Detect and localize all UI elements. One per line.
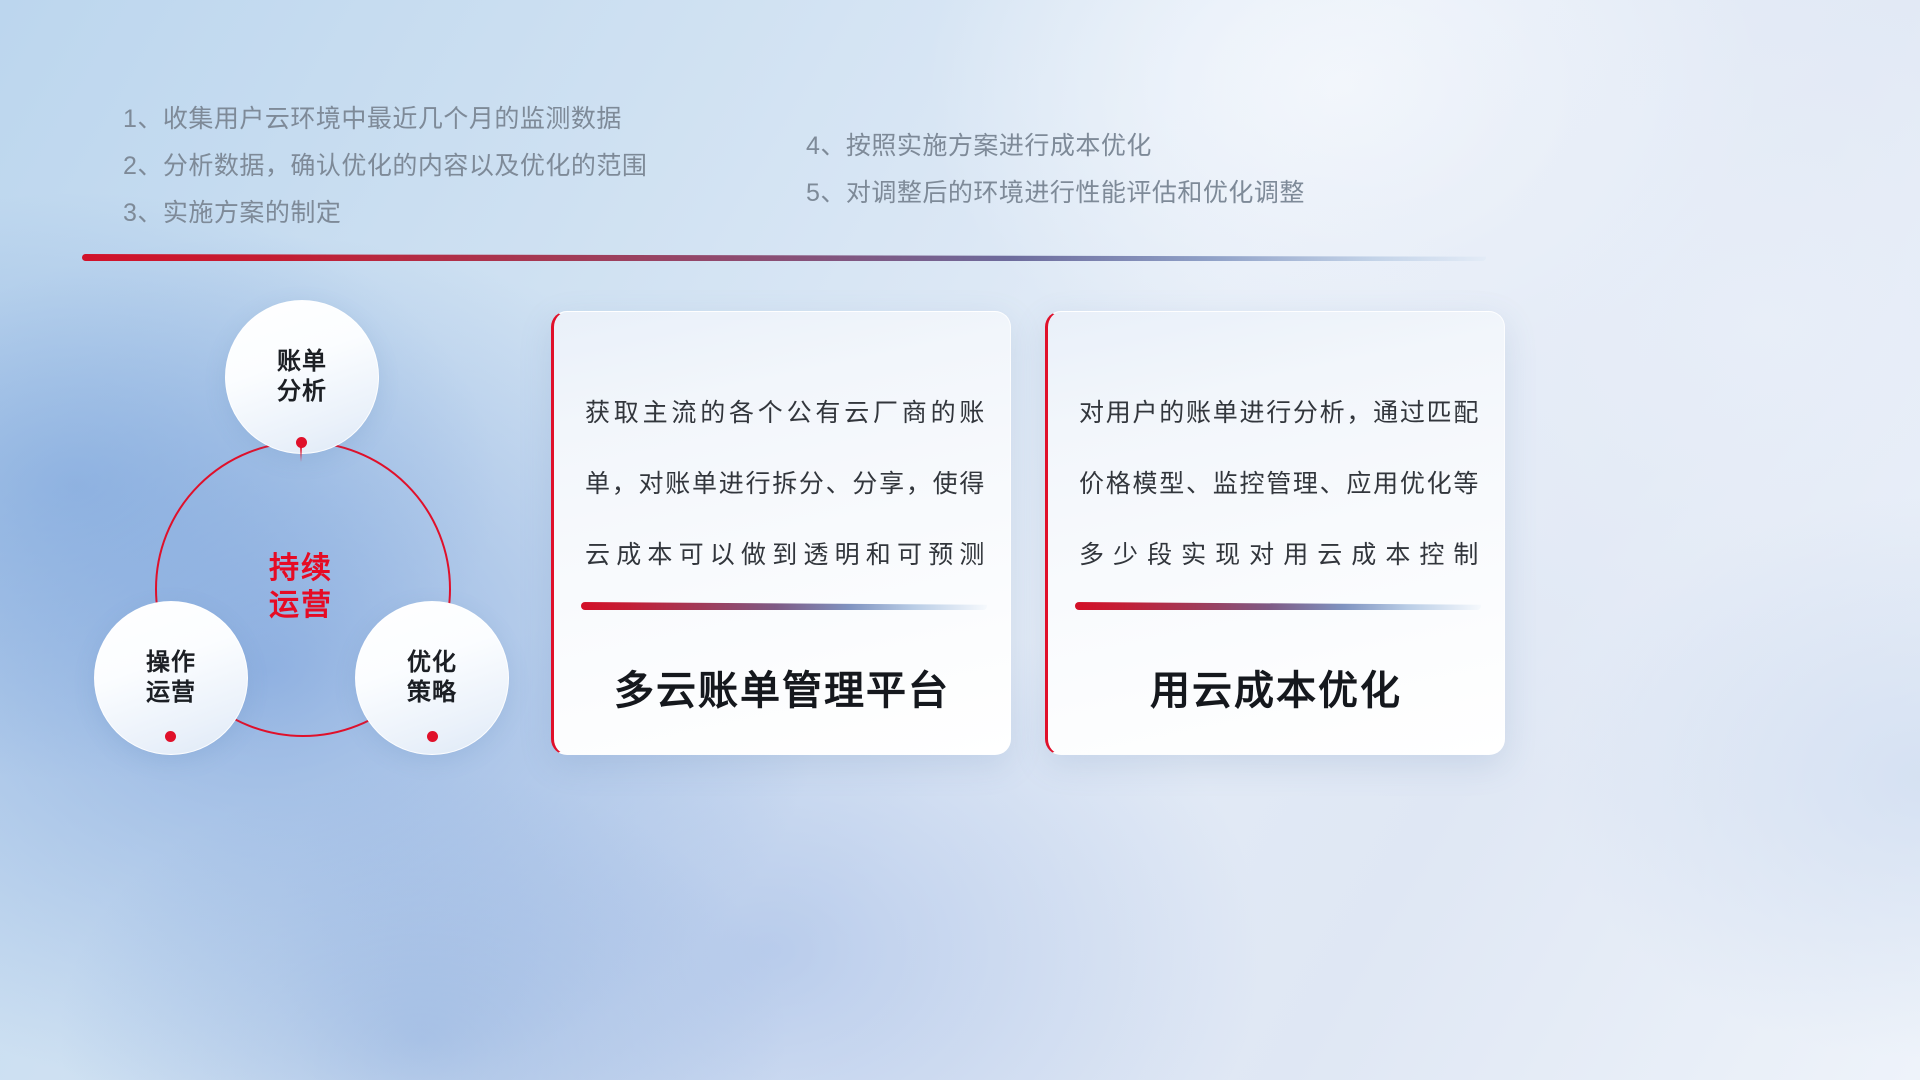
venn-label-line1: 操作 (146, 649, 196, 676)
step-item: 4、按照实施方案进行成本优化 (806, 123, 1506, 170)
venn-diagram: 账单 分析 操作 运营 优化 策略 持续 运营 (80, 296, 540, 766)
card-divider (1075, 602, 1481, 610)
venn-label-line2: 分析 (277, 378, 327, 405)
card-body-text: 对用户的账单进行分析，通过匹配价格模型、监控管理、应用优化等多少段实现对用云成本… (1079, 378, 1479, 591)
card-title: 多云账单管理平台 (554, 658, 1010, 716)
step-item: 2、分析数据，确认优化的内容以及优化的范围 (123, 143, 823, 190)
venn-label-line1: 账单 (277, 348, 327, 375)
venn-circle-left-label: 操作 运营 (146, 648, 196, 708)
info-card-cloud-cost-optimization[interactable]: 对用户的账单进行分析，通过匹配价格模型、监控管理、应用优化等多少段实现对用云成本… (1045, 311, 1505, 755)
step-item: 3、实施方案的制定 (123, 190, 823, 237)
card-title: 用云成本优化 (1048, 658, 1504, 716)
card-body-text: 获取主流的各个公有云厂商的账单，对账单进行拆分、分享，使得云成本可以做到透明和可… (585, 378, 985, 591)
venn-circle-top-label: 账单 分析 (277, 347, 327, 407)
card-divider (581, 602, 987, 610)
steps-left-column: 1、收集用户云环境中最近几个月的监测数据 2、分析数据，确认优化的内容以及优化的… (123, 96, 823, 237)
venn-node-dot-left (165, 731, 176, 742)
venn-node-dot-right (427, 731, 438, 742)
step-item: 5、对调整后的环境进行性能评估和优化调整 (806, 170, 1506, 217)
venn-circle-top[interactable]: 账单 分析 (225, 300, 379, 454)
venn-label-line2: 策略 (407, 679, 457, 706)
steps-right-column: 4、按照实施方案进行成本优化 5、对调整后的环境进行性能评估和优化调整 (806, 123, 1506, 217)
venn-label-line1: 优化 (407, 649, 457, 676)
info-card-multicloud-billing[interactable]: 获取主流的各个公有云厂商的账单，对账单进行拆分、分享，使得云成本可以做到透明和可… (551, 311, 1011, 755)
venn-connector-tick-top (300, 446, 302, 462)
step-item: 1、收集用户云环境中最近几个月的监测数据 (123, 96, 823, 143)
venn-node-dot-top (296, 437, 307, 448)
venn-label-line2: 运营 (146, 679, 196, 706)
venn-circle-right-label: 优化 策略 (407, 648, 457, 708)
